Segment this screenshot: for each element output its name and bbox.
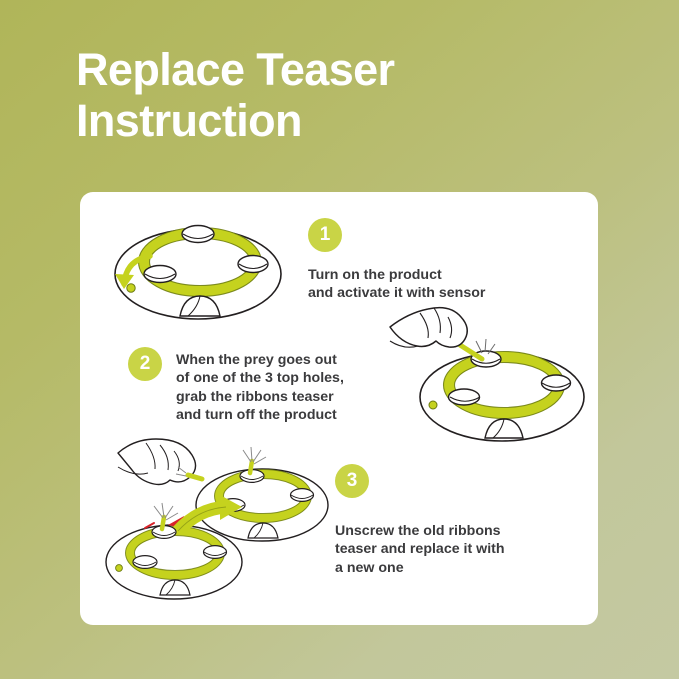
poster-root: Replace Teaser Instruction: [0, 0, 679, 679]
page-title: Replace Teaser Instruction: [76, 44, 596, 146]
page-title-line-1: Replace Teaser: [76, 44, 596, 95]
step-1: 1 Turn on the product and activate it wi…: [308, 218, 558, 303]
hole-left: [449, 389, 481, 405]
illustration-step-2: [390, 297, 600, 452]
hole-left: [144, 266, 176, 283]
instruction-card: 1 Turn on the product and activate it wi…: [80, 192, 598, 625]
hole-right: [238, 256, 268, 273]
hand: [390, 308, 467, 348]
illustration-step-1: [98, 212, 298, 327]
step-1-badge: 1: [308, 218, 342, 252]
page-title-line-2: Instruction: [76, 95, 596, 146]
step-1-text: Turn on the product and activate it with…: [308, 266, 558, 303]
step-3-text: Unscrew the old ribbons teaser and repla…: [335, 522, 580, 577]
step-2-badge: 2: [128, 347, 162, 381]
disc-new: [196, 447, 328, 541]
step-2-text: When the prey goes out of one of the 3 t…: [176, 347, 344, 425]
step-3: 3 Unscrew the old ribbons teaser and rep…: [335, 464, 580, 577]
hole-right: [542, 375, 571, 391]
hand: [118, 439, 196, 485]
step-3-badge: 3: [335, 464, 369, 498]
sensor-button: [429, 401, 437, 409]
hole-top: [182, 226, 214, 243]
sensor-button: [127, 284, 135, 292]
step-2: 2 When the prey goes out of one of the 3…: [128, 347, 403, 425]
illustration-step-3: [102, 437, 337, 602]
